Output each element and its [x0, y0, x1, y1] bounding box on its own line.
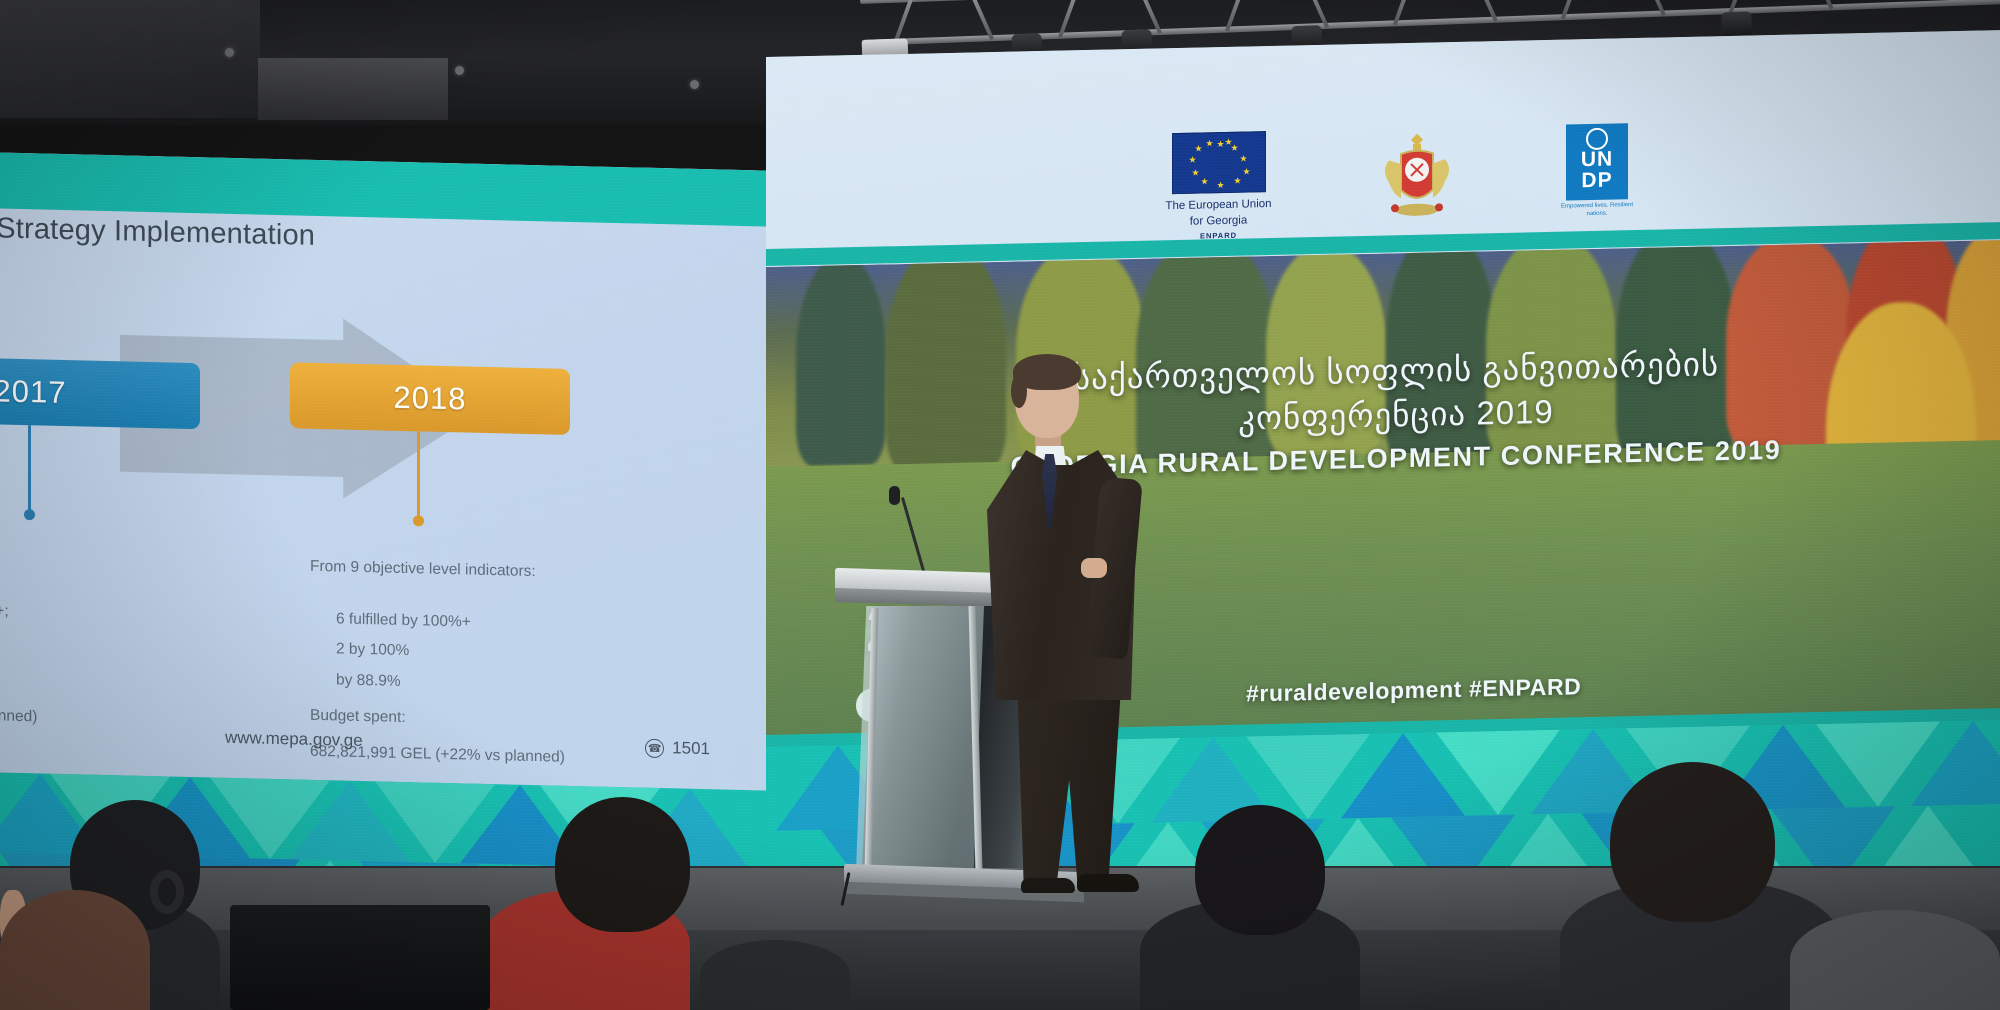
- phone-icon: ☎: [645, 738, 664, 757]
- undp-tagline: Empowered lives. Resilient nations.: [1558, 202, 1636, 219]
- speaker-hand: [1081, 558, 1107, 578]
- undp-icon: UN DP: [1566, 123, 1628, 200]
- year-tag-2017: 2017: [0, 355, 200, 429]
- footer-website: www.mepa.gov.ge: [225, 728, 363, 751]
- undp-line1: UN: [1566, 148, 1628, 170]
- partner-logos: ★ ★ ★ ★ ★ ★ ★ ★ ★ ★ ★ ★ The Europe: [1156, 123, 1636, 238]
- audience-person: [1790, 910, 2000, 1010]
- audience-head: [1610, 762, 1775, 922]
- eu-flag-icon: ★ ★ ★ ★ ★ ★ ★ ★ ★ ★ ★ ★: [1172, 131, 1266, 194]
- eu-caption-line2: for Georgia: [1190, 214, 1248, 227]
- georgia-coat-of-arms-logo: [1367, 127, 1472, 233]
- microphone: [889, 486, 900, 505]
- screenshot-root: ults of the Strategy Implementation 2017…: [0, 0, 2000, 1010]
- undp-line2: DP: [1566, 169, 1628, 191]
- audience-head: [1195, 805, 1325, 935]
- undp-logo: UN DP Empowered lives. Resilient nations…: [1558, 123, 1636, 219]
- coat-of-arms-icon: [1367, 127, 1467, 229]
- headphones-icon: [150, 870, 184, 914]
- connector-dot-2018: [413, 515, 424, 526]
- audience-head: [555, 797, 690, 932]
- left-slide-left-column: level indicators: d by 100% or 100%+; d …: [0, 541, 190, 736]
- footer-phone: ☎ 1501: [645, 738, 710, 760]
- eu-caption-line1: The European Union: [1165, 198, 1271, 212]
- eu-logo-caption: The European Union for Georgia ENPARD: [1156, 197, 1281, 243]
- audience-person: [700, 940, 850, 1010]
- connector-dot-2017: [24, 509, 35, 520]
- footer-phone-number: 1501: [672, 738, 710, 759]
- audience-person: [0, 890, 150, 1010]
- connector-line-2017: [28, 425, 31, 511]
- year-tag-2018: 2018: [290, 362, 570, 435]
- connector-line-2018: [417, 431, 420, 517]
- stage-light: [1721, 11, 1752, 38]
- speaker-sideburn: [1011, 374, 1027, 408]
- foreground-equipment: [230, 905, 490, 1010]
- eu-flag-logo: ★ ★ ★ ★ ★ ★ ★ ★ ★ ★ ★ ★ The Europe: [1156, 131, 1281, 243]
